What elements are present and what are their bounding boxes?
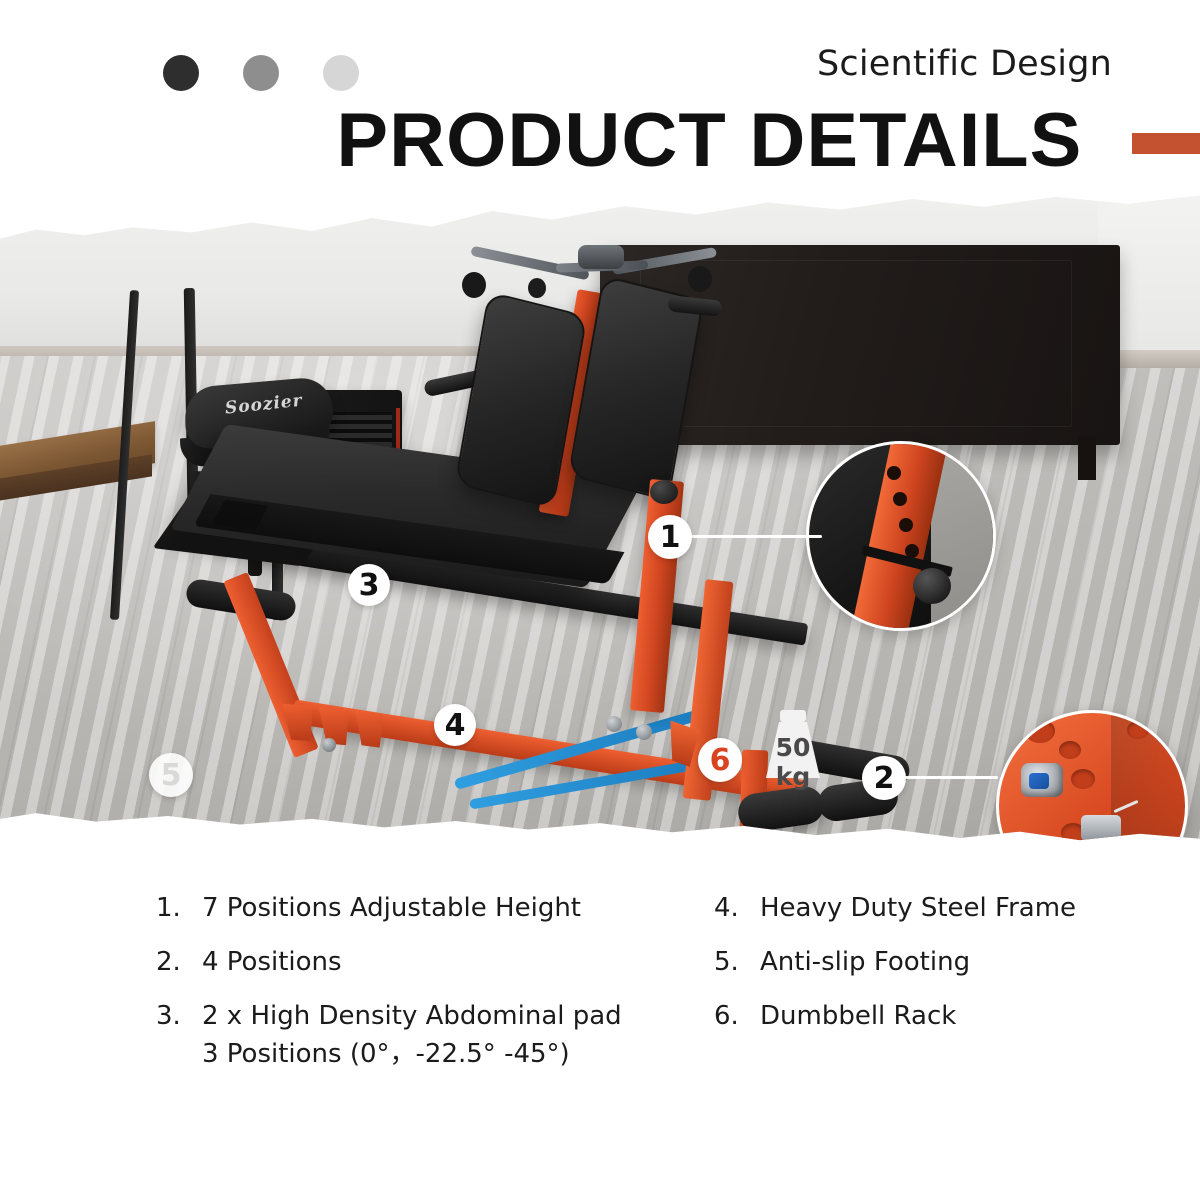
bench-floor-shadow xyxy=(200,850,920,860)
list-item: 6. Dumbbell Rack xyxy=(714,998,1144,1034)
product-details-page: Scientific Design PRODUCT DETAILS xyxy=(0,0,1200,1200)
product-photo: Soozier xyxy=(0,150,1200,860)
detail-2-hole-1 xyxy=(1025,719,1055,743)
detail-1-hole-1 xyxy=(887,466,901,480)
dot-dark-icon xyxy=(163,55,199,91)
frame-bolt-a xyxy=(606,716,622,732)
detail-2-hole-2 xyxy=(1059,741,1081,759)
feature-number: 2. xyxy=(156,944,202,980)
callout-marker-1[interactable]: 1 xyxy=(648,515,692,559)
feature-number: 1. xyxy=(156,890,202,926)
frame-bolt-c xyxy=(322,738,336,752)
feature-text: 2 x High Density Abdominal pad xyxy=(202,998,622,1034)
detail-1-locking-knob xyxy=(913,568,951,604)
leader-line-2 xyxy=(902,776,998,779)
list-item: 5. Anti-slip Footing xyxy=(714,944,1144,980)
callout-marker-6[interactable]: 6 xyxy=(698,738,742,782)
feature-text: Heavy Duty Steel Frame xyxy=(760,890,1076,926)
header-subtitle: Scientific Design xyxy=(817,44,1112,84)
detail-1-hole-3 xyxy=(899,518,913,532)
dot-light-icon xyxy=(323,55,359,91)
list-item: 4. Heavy Duty Steel Frame xyxy=(714,890,1144,926)
dumbbell-rack-claw-3 xyxy=(355,710,384,749)
page-title: PRODUCT DETAILS xyxy=(336,103,1082,179)
callout-marker-2[interactable]: 2 xyxy=(862,756,906,800)
feature-number: 5. xyxy=(714,944,760,980)
feature-number: 3. xyxy=(156,998,202,1034)
detail-2-quick-release-pin xyxy=(1081,815,1121,841)
feature-text: 7 Positions Adjustable Height xyxy=(202,890,581,926)
detail-circle-1 xyxy=(806,441,996,631)
detail-2-bolt-core xyxy=(1029,773,1049,789)
roller-pivot-disc xyxy=(732,846,758,860)
detail-2-hole-5 xyxy=(1127,721,1149,739)
feature-text-line2: 3 Positions (0°，-22.5° -45°) xyxy=(202,1034,622,1074)
room-scene: Soozier xyxy=(0,150,1200,860)
feature-number: 4. xyxy=(714,890,760,926)
feature-column-left: 1. 7 Positions Adjustable Height 2. 4 Po… xyxy=(156,890,656,1092)
title-accent-bar xyxy=(1132,133,1200,154)
dot-group xyxy=(163,55,359,91)
feature-text: Anti-slip Footing xyxy=(760,944,970,980)
feature-text: Dumbbell Rack xyxy=(760,998,956,1034)
list-item: 2. 4 Positions xyxy=(156,944,656,980)
feature-text: 4 Positions xyxy=(202,944,342,980)
adjustment-knob xyxy=(650,480,678,504)
detail-circle-2 xyxy=(996,710,1188,860)
dot-mid-icon xyxy=(243,55,279,91)
detail-1-hole-2 xyxy=(893,492,907,506)
feature-number: 6. xyxy=(714,998,760,1034)
feature-list: 1. 7 Positions Adjustable Height 2. 4 Po… xyxy=(0,890,1200,1120)
callout-marker-3[interactable]: 3 xyxy=(348,564,390,606)
feature-column-right: 4. Heavy Duty Steel Frame 5. Anti-slip F… xyxy=(714,890,1144,1052)
orange-foot-brace xyxy=(717,847,831,860)
callout-marker-4[interactable]: 4 xyxy=(434,704,476,746)
header: Scientific Design PRODUCT DETAILS xyxy=(0,0,1200,210)
detail-2-shadow xyxy=(1111,713,1188,860)
leader-line-1 xyxy=(690,535,822,538)
feature-text-block: 2 x High Density Abdominal pad 3 Positio… xyxy=(202,998,622,1074)
weight-capacity-label: 50 kg xyxy=(756,733,830,791)
list-item: 1. 7 Positions Adjustable Height xyxy=(156,890,656,926)
frame-bolt-b xyxy=(636,724,652,740)
list-item: 3. 2 x High Density Abdominal pad 3 Posi… xyxy=(156,998,656,1074)
callout-marker-5[interactable]: 5 xyxy=(149,753,193,797)
detail-2-hole-3 xyxy=(1071,769,1095,789)
